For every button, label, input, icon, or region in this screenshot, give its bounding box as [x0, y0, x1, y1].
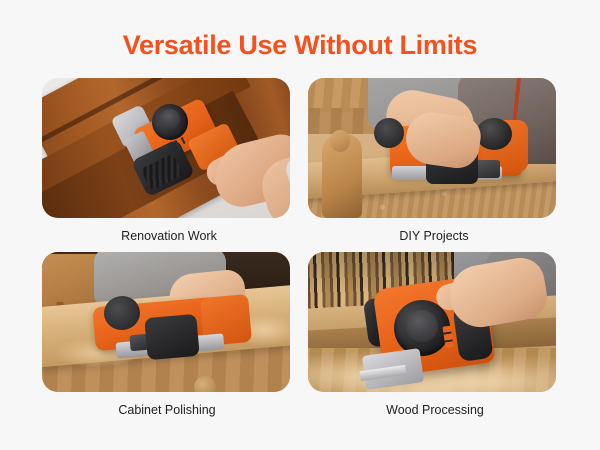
planer-depth-knob-top: [406, 310, 438, 342]
photo-wood-processing: [308, 252, 556, 392]
grid-row-1: Renovation Work: [42, 78, 558, 252]
caption-renovation-work: Renovation Work: [42, 228, 290, 244]
photo-diy-projects: [308, 78, 556, 218]
grid-row-2: Cabinet Polishing: [42, 252, 558, 426]
caption-diy-projects: DIY Projects: [308, 228, 556, 244]
wooden-dowel: [194, 376, 216, 392]
feature-card-diy-projects[interactable]: DIY Projects: [308, 78, 556, 244]
caption-cabinet-polishing: Cabinet Polishing: [42, 402, 290, 418]
planer-battery-pack: [144, 314, 199, 360]
feature-card-renovation-work[interactable]: Renovation Work: [42, 78, 290, 244]
photo-renovation-work: [42, 78, 290, 218]
planer-depth-knob: [476, 118, 512, 150]
photo-cabinet-polishing: [42, 252, 290, 392]
wood-carving-figurine-head: [330, 130, 350, 152]
promo-banner: Versatile Use Without Limits: [0, 0, 600, 450]
feature-card-cabinet-polishing[interactable]: Cabinet Polishing: [42, 252, 290, 418]
caption-wood-processing: Wood Processing: [308, 402, 556, 418]
page-title: Versatile Use Without Limits: [0, 28, 600, 62]
planer-depth-knob-top: [160, 109, 180, 129]
feature-card-wood-processing[interactable]: Wood Processing: [308, 252, 556, 418]
feature-grid: Renovation Work: [42, 78, 558, 426]
planer-rear-knob: [374, 118, 404, 148]
